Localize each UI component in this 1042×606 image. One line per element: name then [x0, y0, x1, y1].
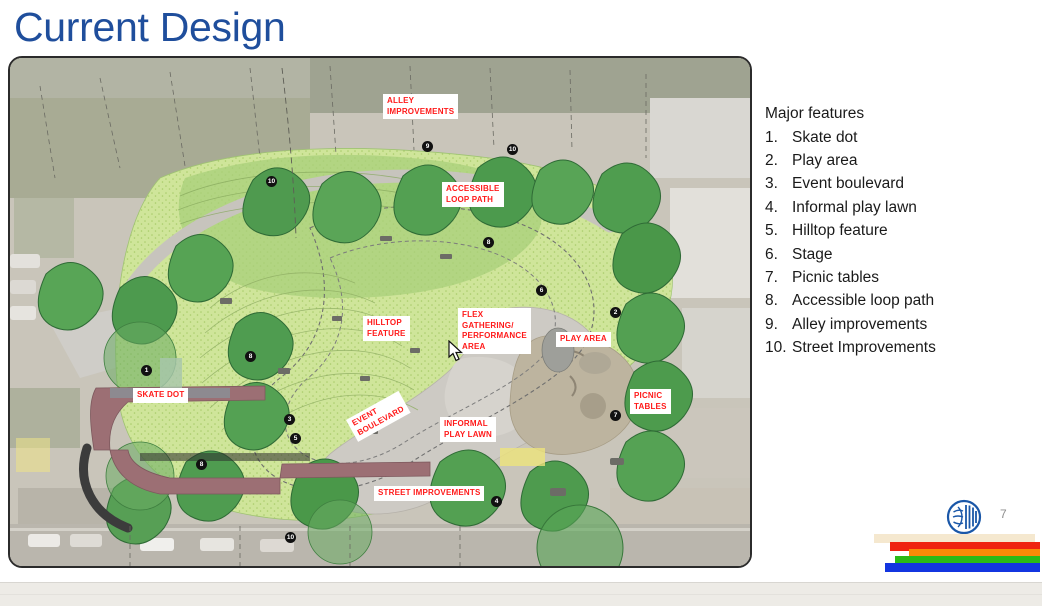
feature-item-alley-improvements: 9. Alley improvements	[765, 313, 1035, 336]
feature-item-picnic-tables: 7. Picnic tables	[765, 266, 1035, 289]
map-marker-5[interactable]: 5	[290, 433, 301, 444]
map-marker-8[interactable]: 8	[483, 237, 494, 248]
major-features-list: Major features 1. Skate dot 2. Play area…	[765, 102, 1035, 360]
site-plan-map[interactable]: ALLEY IMPROVEMENTS ACCESSIBLE LOOP PATH …	[8, 56, 752, 568]
map-marker-7[interactable]: 7	[610, 410, 621, 421]
map-label-alley-improvements: ALLEY IMPROVEMENTS	[383, 94, 458, 119]
map-label-flex-gathering-performance-area: FLEX GATHERING/ PERFORMANCE AREA	[458, 308, 531, 354]
map-marker-9[interactable]: 9	[422, 141, 433, 152]
map-marker-8b[interactable]: 8	[245, 351, 256, 362]
map-label-informal-play-lawn: INFORMAL PLAY LAWN	[440, 417, 496, 442]
feature-number: 3.	[765, 172, 792, 195]
feature-number: 6.	[765, 243, 792, 266]
map-marker-10c[interactable]: 10	[285, 532, 296, 543]
feature-item-stage: 6. Stage	[765, 243, 1035, 266]
feature-number: 2.	[765, 149, 792, 172]
feature-item-street-improvements: 10. Street Improvements	[765, 336, 1035, 359]
feature-number: 5.	[765, 219, 792, 242]
feature-label: Alley improvements	[792, 313, 1035, 336]
feature-item-accessible-loop-path: 8. Accessible loop path	[765, 289, 1035, 312]
map-marker-8c[interactable]: 8	[196, 459, 207, 470]
map-marker-1[interactable]: 1	[141, 365, 152, 376]
feature-number: 7.	[765, 266, 792, 289]
feature-item-play-area: 2. Play area	[765, 149, 1035, 172]
map-marker-6[interactable]: 6	[536, 285, 547, 296]
feature-label: Street Improvements	[792, 336, 1035, 359]
feature-number: 10.	[765, 336, 792, 359]
features-heading: Major features	[765, 102, 1035, 126]
feature-item-informal-play-lawn: 4. Informal play lawn	[765, 196, 1035, 219]
page-title: Current Design	[14, 2, 286, 52]
map-label-street-improvements: STREET IMPROVEMENTS	[374, 486, 484, 501]
seattle-parks-seal-icon	[946, 499, 982, 535]
map-label-play-area: PLAY AREA	[556, 332, 611, 347]
map-marker-10b[interactable]: 10	[266, 176, 277, 187]
feature-number: 9.	[765, 313, 792, 336]
map-marker-2[interactable]: 2	[610, 307, 621, 318]
feature-label: Accessible loop path	[792, 289, 1035, 312]
feature-item-hilltop-feature: 5. Hilltop feature	[765, 219, 1035, 242]
feature-label: Picnic tables	[792, 266, 1035, 289]
map-label-accessible-loop-path: ACCESSIBLE LOOP PATH	[442, 182, 504, 207]
feature-label: Stage	[792, 243, 1035, 266]
feature-number: 8.	[765, 289, 792, 312]
map-label-skate-dot: SKATE DOT	[133, 388, 188, 403]
map-label-hilltop-feature: HILLTOP FEATURE	[363, 316, 410, 341]
feature-number: 4.	[765, 196, 792, 219]
footer-bar-blue	[885, 563, 1040, 572]
feature-label: Hilltop feature	[792, 219, 1035, 242]
map-marker-3[interactable]: 3	[284, 414, 295, 425]
feature-item-event-boulevard: 3. Event boulevard	[765, 172, 1035, 195]
presentation-slide: Current Design	[0, 0, 1042, 582]
feature-number: 1.	[765, 126, 792, 149]
map-label-picnic-tables: PICNIC TABLES	[630, 389, 671, 414]
feature-label: Informal play lawn	[792, 196, 1035, 219]
slide-page-number: 7	[1000, 507, 1007, 521]
window-bottom-chrome	[0, 582, 1042, 606]
chrome-divider	[0, 594, 1042, 595]
map-marker-4[interactable]: 4	[491, 496, 502, 507]
map-marker-10[interactable]: 10	[507, 144, 518, 155]
feature-label: Play area	[792, 149, 1035, 172]
feature-label: Event boulevard	[792, 172, 1035, 195]
feature-label: Skate dot	[792, 126, 1035, 149]
feature-item-skate-dot: 1. Skate dot	[765, 126, 1035, 149]
